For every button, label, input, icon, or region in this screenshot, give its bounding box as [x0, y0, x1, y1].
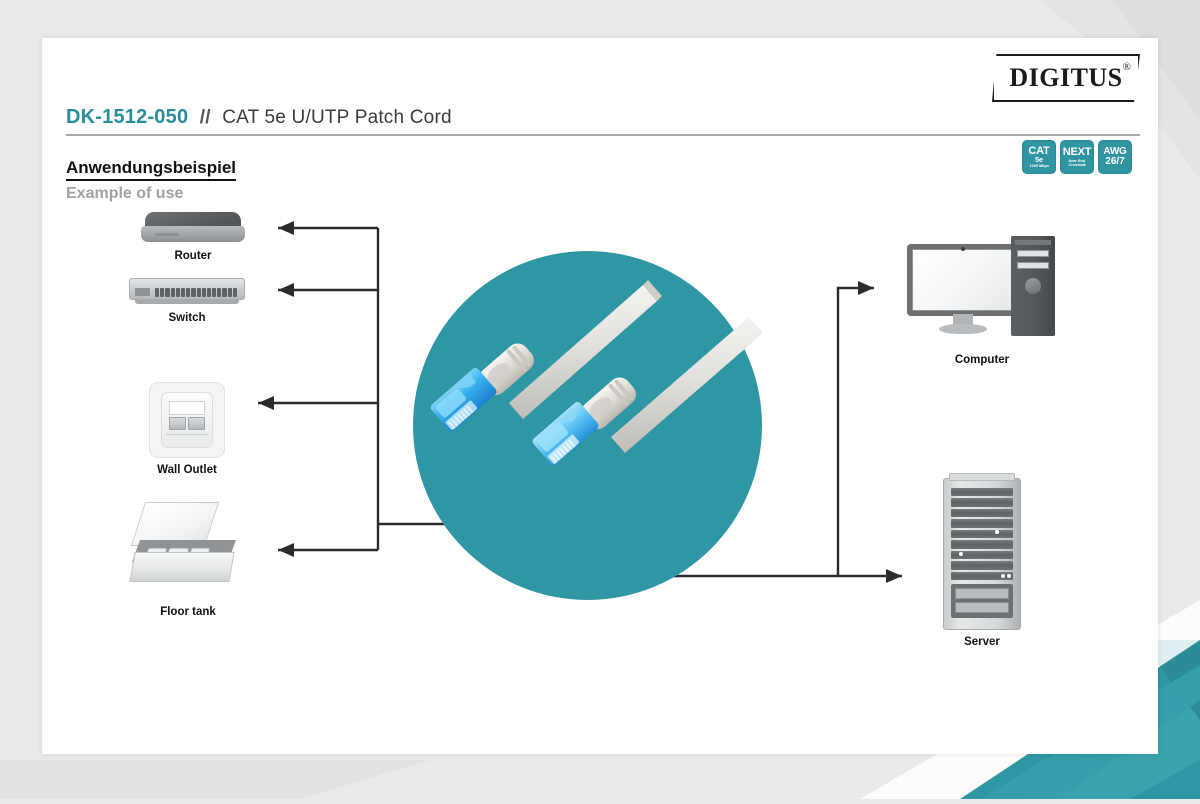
cable-lower	[531, 317, 762, 467]
diagram-node-switch: Switch	[122, 276, 252, 324]
floor-tank-label: Floor tank	[118, 606, 258, 618]
diagram-node-computer: Computer	[892, 236, 1072, 366]
wall-outlet-label: Wall Outlet	[122, 464, 252, 476]
diagram-node-server: Server	[902, 478, 1062, 648]
cable-upper	[429, 280, 662, 433]
server-label: Server	[902, 636, 1062, 648]
wall-outlet-icon	[149, 382, 225, 458]
router-icon	[141, 212, 245, 244]
computer-label: Computer	[892, 354, 1072, 366]
floor-tank-icon	[130, 502, 246, 600]
application-diagram: Router Switch Wall Outlet	[42, 38, 1158, 754]
server-icon	[943, 478, 1021, 630]
switch-icon	[129, 276, 245, 306]
diagram-node-floor-tank: Floor tank	[118, 502, 258, 618]
switch-label: Switch	[122, 312, 252, 324]
diagram-node-router: Router	[128, 212, 258, 262]
datasheet-page: DK-1512-050 // CAT 5e U/UTP Patch Cord D…	[42, 38, 1158, 754]
router-label: Router	[128, 250, 258, 262]
diagram-node-wall-outlet: Wall Outlet	[122, 382, 252, 476]
patch-cord-illustration	[413, 251, 762, 600]
computer-icon	[907, 236, 1057, 348]
hero-circle	[413, 251, 762, 600]
